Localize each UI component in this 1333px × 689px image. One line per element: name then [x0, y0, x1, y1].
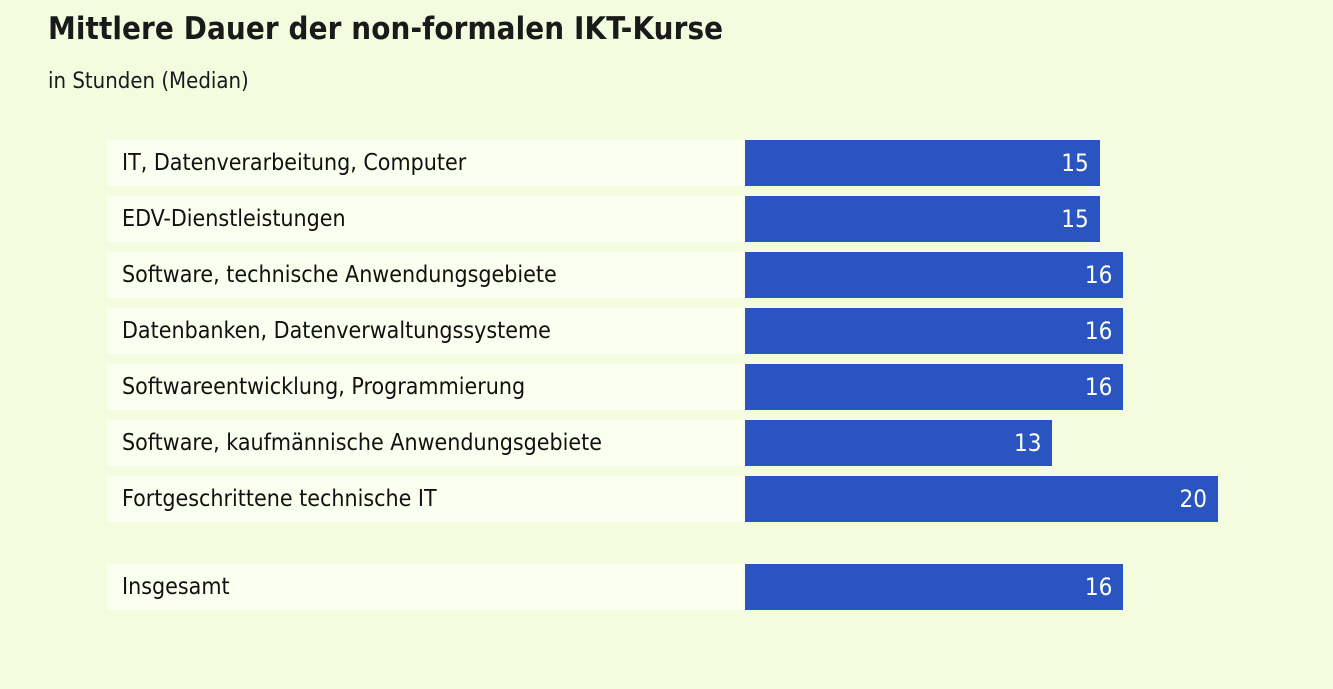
bar-track: 16 — [745, 308, 1257, 354]
bar-value-label: 16 — [1085, 564, 1112, 610]
bar-track: 16 — [745, 252, 1257, 298]
bar: 15 — [745, 196, 1100, 242]
bar-row: Softwareentwicklung, Programmierung16 — [107, 364, 1257, 410]
bar-track: 15 — [745, 140, 1257, 186]
bar-row: Datenbanken, Datenverwaltungssysteme16 — [107, 308, 1257, 354]
bar-track: 20 — [745, 476, 1257, 522]
bar-row: IT, Datenverarbeitung, Computer15 — [107, 140, 1257, 186]
bar-value-label: 15 — [1061, 196, 1088, 242]
bar-category-label: Software, technische Anwendungsgebiete — [122, 252, 557, 298]
bar-category-label: Fortgeschrittene technische IT — [122, 476, 437, 522]
bar: 13 — [745, 420, 1052, 466]
bar-row: EDV-Dienstleistungen15 — [107, 196, 1257, 242]
bar-value-label: 16 — [1085, 308, 1112, 354]
bar-category-label: IT, Datenverarbeitung, Computer — [122, 140, 466, 186]
bar-row: Fortgeschrittene technische IT20 — [107, 476, 1257, 522]
bar-category-label: Software, kaufmännische Anwendungsgebiet… — [122, 420, 602, 466]
chart-container: Mittlere Dauer der non-formalen IKT-Kurs… — [0, 0, 1333, 689]
bar-value-label: 16 — [1085, 364, 1112, 410]
bar-track: 13 — [745, 420, 1257, 466]
bar: 16 — [745, 252, 1123, 298]
bar-category-label: Insgesamt — [122, 564, 230, 610]
bar-chart-plot-area: IT, Datenverarbeitung, Computer15EDV-Die… — [0, 0, 1333, 689]
bar-row: Software, kaufmännische Anwendungsgebiet… — [107, 420, 1257, 466]
bar: 15 — [745, 140, 1100, 186]
bar: 20 — [745, 476, 1218, 522]
bar-value-label: 20 — [1180, 476, 1207, 522]
bar-row: Insgesamt16 — [107, 564, 1257, 610]
bar-track: 15 — [745, 196, 1257, 242]
bar: 16 — [745, 308, 1123, 354]
bar-track: 16 — [745, 364, 1257, 410]
bar-category-label: EDV-Dienstleistungen — [122, 196, 346, 242]
bar-value-label: 13 — [1014, 420, 1041, 466]
bar-value-label: 15 — [1061, 140, 1088, 186]
bar-row: Software, technische Anwendungsgebiete16 — [107, 252, 1257, 298]
bar-value-label: 16 — [1085, 252, 1112, 298]
bar-category-label: Datenbanken, Datenverwaltungssysteme — [122, 308, 551, 354]
bar: 16 — [745, 364, 1123, 410]
bar-category-label: Softwareentwicklung, Programmierung — [122, 364, 525, 410]
bar: 16 — [745, 564, 1123, 610]
bar-track: 16 — [745, 564, 1257, 610]
